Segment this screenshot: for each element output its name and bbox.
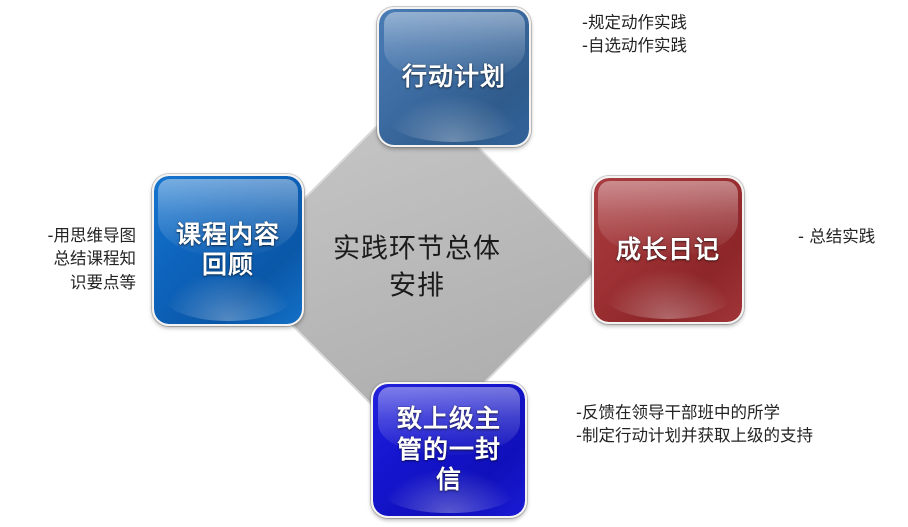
annotation-letter: -反馈在领导干部班中的所学 -制定行动计划并获取上级的支持 [576,401,813,448]
node-action-plan[interactable]: 行动计划 [377,7,531,147]
node-action-plan-label: 行动计划 [402,62,506,93]
annotation-growth-diary: - 总结实践 [798,225,875,248]
node-growth-diary-surface: 成长日记 [594,178,742,322]
node-growth-diary[interactable]: 成长日记 [592,176,744,324]
node-letter[interactable]: 致上级主 管的一封 信 [371,382,527,518]
node-action-plan-surface: 行动计划 [379,9,529,145]
node-course-review-surface: 课程内容 回顾 [154,176,302,324]
annotation-action-plan: -规定动作实践 -自选动作实践 [582,11,687,58]
diagram-canvas: 实践环节总体 安排 行动计划 课程内容 回顾 成长日记 致上级主 管的一封 信 … [0,0,908,527]
node-letter-label: 致上级主 管的一封 信 [397,404,501,496]
annotation-course-review: -用思维导图 总结课程知 识要点等 [6,224,136,294]
node-course-review[interactable]: 课程内容 回顾 [152,174,304,326]
node-letter-surface: 致上级主 管的一封 信 [373,384,525,516]
node-course-review-label: 课程内容 回顾 [176,220,280,281]
node-growth-diary-label: 成长日记 [616,235,720,266]
